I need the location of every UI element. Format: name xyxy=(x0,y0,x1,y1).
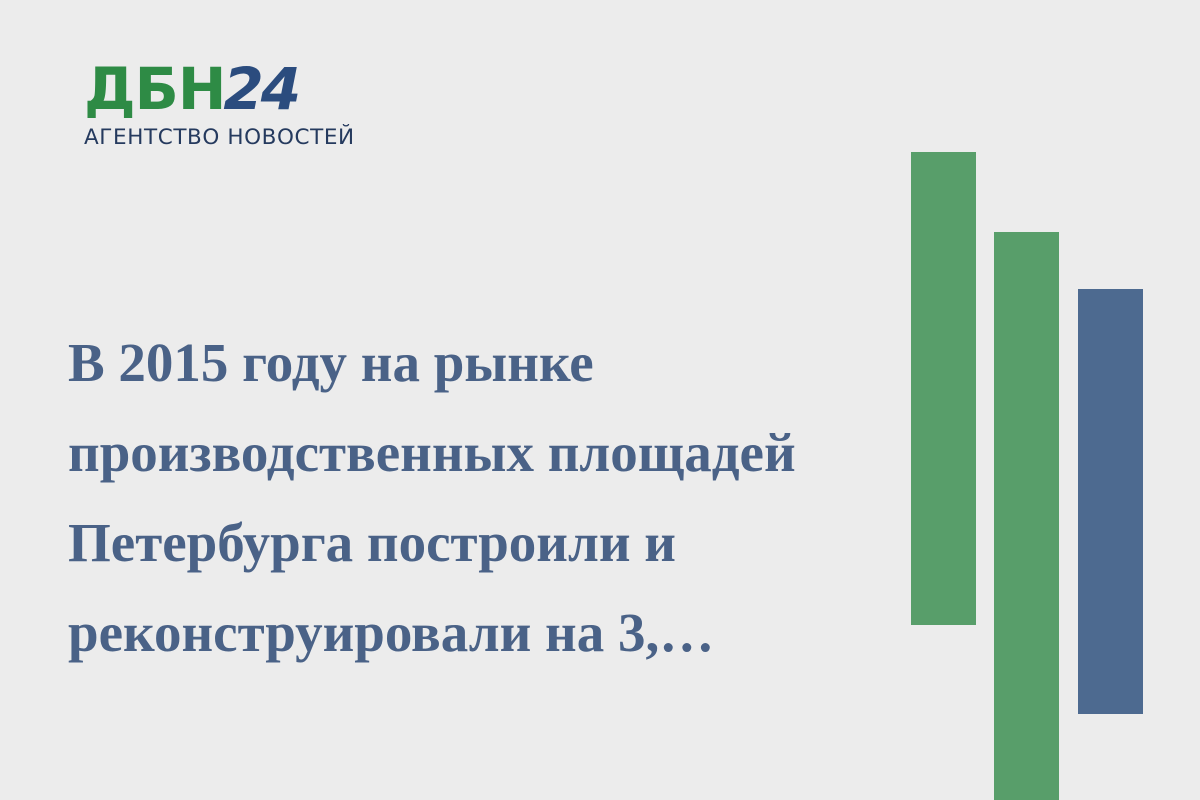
logo-tagline: АГЕНТСТВО НОВОСТЕЙ xyxy=(84,125,374,150)
headline-line-2: производственных площадей xyxy=(68,408,868,498)
logo-24-text: 24 xyxy=(223,55,298,123)
news-card: ДБН24 АГЕНТСТВО НОВОСТЕЙ В 2015 году на … xyxy=(0,0,1200,800)
headline-line-4: реконструировали на 3,… xyxy=(68,588,868,678)
headline-line-1: В 2015 году на рынке xyxy=(68,318,868,408)
logo-abn-text: ДБН xyxy=(84,55,225,123)
logo-wordmark: ДБН24 xyxy=(84,58,374,120)
page-title: В 2015 году на рынке производственных пл… xyxy=(68,318,868,678)
chart-bar-2 xyxy=(994,232,1059,800)
headline-line-3: Петербурга построили и xyxy=(68,498,868,588)
brand-logo[interactable]: ДБН24 АГЕНТСТВО НОВОСТЕЙ xyxy=(84,58,374,150)
chart-bar-1 xyxy=(911,152,976,625)
chart-bar-3 xyxy=(1078,289,1143,714)
